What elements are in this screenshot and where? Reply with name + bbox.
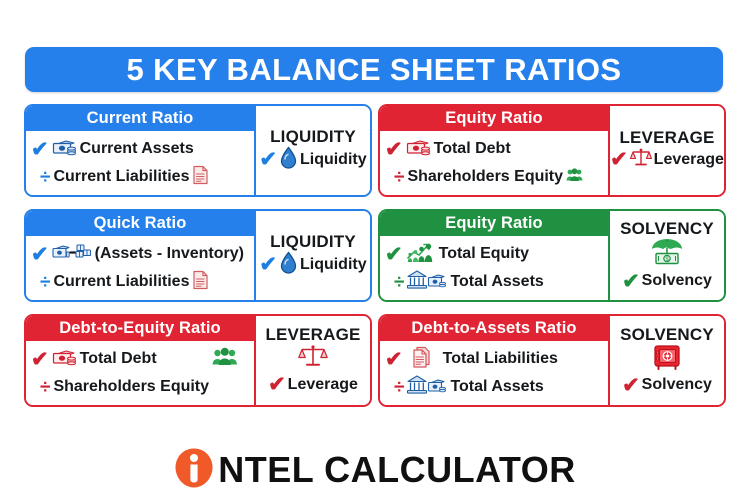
numerator-label: Total Debt [434,141,511,157]
debt-money-icon [52,347,77,371]
numerator-row: ✔ [385,345,604,373]
bank-money-icon [407,374,447,400]
water-drop-icon [279,251,298,279]
ratio-card-grid: Current Ratio ✔ Current As [24,104,726,414]
card-header-quick-ratio: Quick Ratio [26,211,254,236]
category-label-row: ✔ Leverage [268,374,358,395]
ratio-card-debt-to-assets-ratio[interactable]: Debt-to-Assets Ratio ✔ [378,314,726,407]
check-icon: ✔ [622,375,640,396]
ratio-card-equity-ratio-leverage[interactable]: Equity Ratio ✔ Total Debt [378,104,726,197]
footer-brand[interactable]: NTEL CALCULATOR [0,444,750,496]
ratio-card-equity-ratio-solvency[interactable]: Equity Ratio ✔ [378,209,726,302]
card-formula-body: ✔ Total Debt [26,341,254,405]
card-header-current-ratio: Current Ratio [26,106,254,131]
denominator-label: Total Assets [450,379,543,395]
page-title-banner: 5 KEY BALANCE SHEET RATIOS [25,47,723,92]
card-formula-body: ✔ [380,236,608,300]
card-header-debt-to-assets-ratio: Debt-to-Assets Ratio [380,316,608,341]
divide-icon: ÷ [385,168,404,187]
denominator-row: ÷ [385,373,604,401]
card-formula-body: ✔ Total Debt ÷ [380,131,608,195]
money-minus-boxes-icon [52,242,92,266]
category-row: ✔ Leverage [268,344,358,395]
denominator-label: Shareholders Equity [407,169,563,185]
category-title-leverage: LEVERAGE [619,129,714,146]
numerator-label: (Assets - Inventory) [95,246,244,262]
card-formula-section: Equity Ratio ✔ Total Debt [380,106,608,195]
card-formula-section: Equity Ratio ✔ [380,211,608,300]
card-header-equity-ratio-leverage: Equity Ratio [380,106,608,131]
category-label: Solvency [642,377,712,393]
divide-icon: ÷ [31,168,50,187]
card-formula-section: Quick Ratio ✔ [26,211,254,300]
documents-stack-icon [412,346,434,373]
category-title-leverage: LEVERAGE [265,326,360,343]
check-icon: ✔ [385,349,403,370]
card-category-section: SOLVENCY $ ✔ Solvency [608,211,724,300]
divide-icon: ÷ [31,273,50,292]
card-header-debt-to-equity-ratio: Debt-to-Equity Ratio [26,316,254,341]
check-icon: ✔ [31,139,49,160]
ratio-card-quick-ratio[interactable]: Quick Ratio ✔ [24,209,372,302]
denominator-row: ÷ [385,268,604,296]
page-title: 5 KEY BALANCE SHEET RATIOS [127,54,622,85]
people-group-icon [566,168,583,187]
check-icon: ✔ [385,139,403,160]
card-formula-section: Debt-to-Assets Ratio ✔ [380,316,608,405]
check-icon: ✔ [268,374,286,395]
numerator-row: ✔ [385,240,604,268]
balance-scale-icon [630,147,652,173]
card-formula-section: Debt-to-Equity Ratio ✔ Tot [26,316,254,405]
denominator-label: Shareholders Equity [53,379,209,395]
card-category-section: LEVERAGE ✔ Leverage [608,106,724,195]
category-row: ✔ Liquidity [259,146,366,174]
category-title-liquidity: LIQUIDITY [270,233,356,250]
divide-icon: ÷ [385,273,404,292]
check-icon: ✔ [31,349,49,370]
denominator-row: ÷ Current Liabilities [31,268,250,296]
category-title-solvency: SOLVENCY [620,220,714,237]
divide-icon: ÷ [385,378,404,397]
card-category-section: LIQUIDITY ✔ Liquidity [254,211,370,300]
denominator-label: Current Liabilities [53,169,189,185]
umbrella-money-icon: $ [649,238,685,271]
check-icon: ✔ [259,149,277,170]
document-icon [192,270,209,295]
check-icon: ✔ [622,271,640,292]
check-icon: ✔ [385,244,403,265]
card-category-section: LIQUIDITY ✔ Liquidity [254,106,370,195]
category-label: Leverage [288,377,358,393]
numerator-row: ✔ Total Debt [385,135,604,163]
denominator-row: ÷ Shareholders Equity [31,373,250,401]
ratio-card-current-ratio[interactable]: Current Ratio ✔ Current As [24,104,372,197]
category-label-row: ✔ Solvency [622,271,712,292]
denominator-row: ÷ Current Liabilities [31,163,250,191]
card-formula-body: ✔ [380,341,608,405]
intel-calculator-i-logo-icon [174,447,214,494]
bank-money-icon [407,269,447,295]
brand-name: NTEL CALCULATOR [218,452,575,488]
numerator-label: Total Debt [80,351,157,367]
category-row: ✔ Leverage [610,147,724,173]
card-formula-body: ✔ Current Assets ÷ [26,131,254,195]
card-category-section: SOLVENCY [608,316,724,405]
balance-scale-icon [298,344,328,374]
category-label: Solvency [642,273,712,289]
check-icon: ✔ [610,149,628,170]
category-title-solvency: SOLVENCY [620,326,714,343]
category-row: ✔ Solvency [622,344,712,396]
category-label: Leverage [654,152,724,168]
category-label-row: ✔ Solvency [622,375,712,396]
category-label: Liquidity [300,152,367,168]
ratio-card-debt-to-equity-ratio[interactable]: Debt-to-Equity Ratio ✔ Tot [24,314,372,407]
people-group-icon [212,347,238,371]
category-label: Liquidity [300,257,367,273]
denominator-row: ÷ Shareholders Equity [385,163,604,191]
numerator-label: Total Equity [439,246,529,262]
category-title-liquidity: LIQUIDITY [270,128,356,145]
debt-money-icon [406,137,431,161]
people-growth-icon [406,241,436,268]
document-icon [192,165,209,190]
category-row: $ ✔ Solvency [622,238,712,292]
card-header-equity-ratio-solvency: Equity Ratio [380,211,608,236]
water-drop-icon [279,146,298,174]
denominator-label: Total Assets [450,274,543,290]
card-formula-section: Current Ratio ✔ Current As [26,106,254,195]
divide-icon: ÷ [31,378,50,397]
numerator-row: ✔ Current Assets [31,135,250,163]
banknotes-icon [52,137,77,161]
safe-vault-icon [653,344,681,375]
numerator-label: Current Assets [80,141,194,157]
denominator-label: Current Liabilities [53,274,189,290]
category-row: ✔ Liquidity [259,251,366,279]
numerator-row: ✔ [31,240,250,268]
card-category-section: LEVERAGE ✔ Leverage [254,316,370,405]
check-icon: ✔ [31,244,49,265]
numerator-row: ✔ Total Debt [31,345,250,373]
numerator-label: Total Liabilities [443,351,558,367]
check-icon: ✔ [259,254,277,275]
card-formula-body: ✔ [26,236,254,300]
